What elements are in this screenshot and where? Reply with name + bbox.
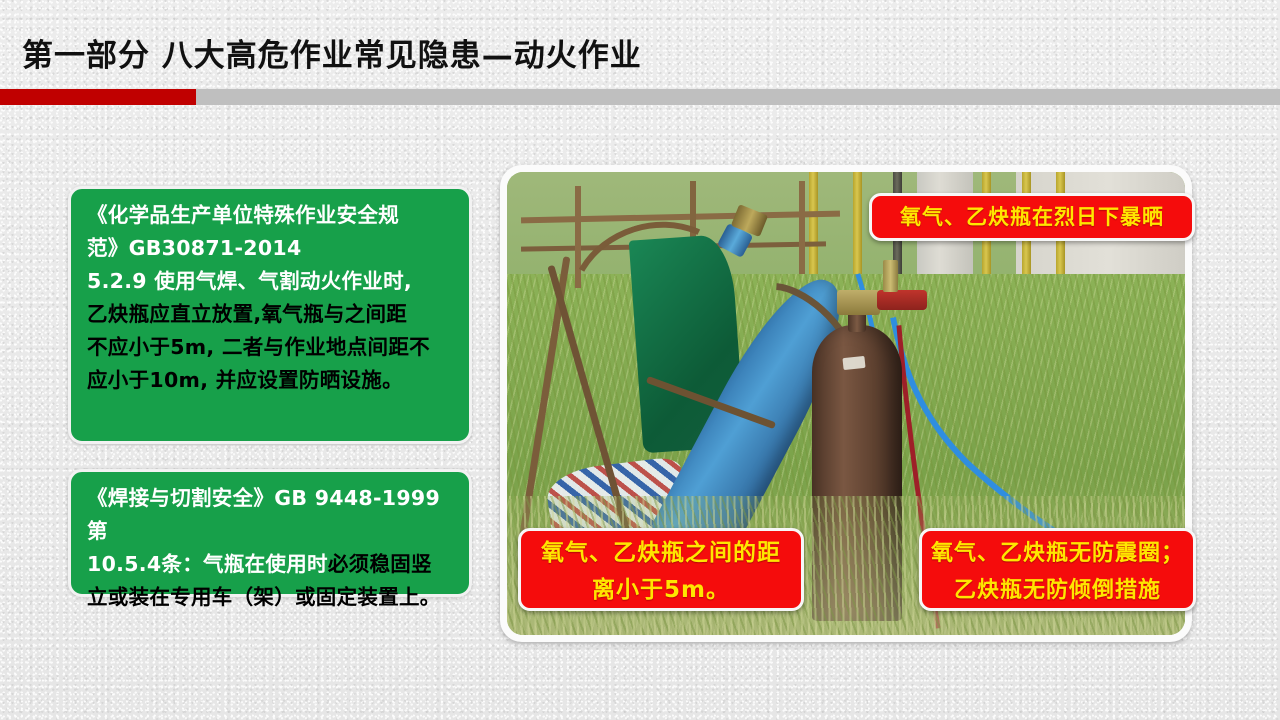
red-valve-handle — [877, 290, 928, 310]
note-box-gb9448: 《焊接与切割安全》GB 9448-1999第 10.5.4条：气瓶在使用时必须稳… — [68, 469, 472, 597]
note-line: 立或装在专用车（架）或固定装置上。 — [87, 581, 455, 614]
note-line: 10.5.4条：气瓶在使用时必须稳固竖 — [87, 548, 455, 581]
note-line: 应小于10m, 并应设置防晒设施。 — [87, 364, 455, 397]
note-line: 乙炔瓶应直立放置,氧气瓶与之间距 — [87, 298, 455, 331]
callout-no-shock-ring: 氧气、乙炔瓶无防震圈； 乙炔瓶无防倾倒措施 — [919, 528, 1196, 611]
page-title: 第一部分 八大高危作业常见隐患—动火作业 — [22, 30, 642, 75]
callout-text: 氧气、乙炔瓶在烈日下暴晒 — [900, 205, 1164, 229]
callout-sun-exposure: 氧气、乙炔瓶在烈日下暴晒 — [869, 193, 1195, 241]
note-line: 不应小于5m, 二者与作业地点间距不 — [87, 331, 455, 364]
note-line: 范》GB30871-2014 — [87, 232, 455, 265]
acetylene-cylinder-valve — [837, 290, 880, 315]
note-line-segment: 10.5.4条：气瓶在使用时 — [87, 552, 328, 576]
callout-distance: 氧气、乙炔瓶之间的距 离小于5m。 — [518, 528, 804, 611]
pressure-regulator — [883, 260, 898, 292]
callout-text: 氧气、乙炔瓶之间的距 — [521, 535, 801, 572]
callout-text: 离小于5m。 — [521, 572, 801, 609]
cylinder-label-sticker — [842, 356, 865, 370]
callout-text: 氧气、乙炔瓶无防震圈； — [922, 535, 1193, 572]
note-box-gb30871: 《化学品生产单位特殊作业安全规 范》GB30871-2014 5.2.9 使用气… — [68, 186, 472, 444]
note-line: 《焊接与切割安全》GB 9448-1999第 — [87, 482, 455, 548]
slide-canvas: 第一部分 八大高危作业常见隐患—动火作业 《化学品生产单位特殊作业安全规 范》G… — [0, 0, 1280, 720]
note-line: 5.2.9 使用气焊、气割动火作业时, — [87, 265, 455, 298]
header-accent-bar — [0, 89, 196, 105]
note-line: 《化学品生产单位特殊作业安全规 — [87, 199, 455, 232]
callout-text: 乙炔瓶无防倾倒措施 — [922, 572, 1193, 609]
note-line-segment-highlight: 必须稳固竖 — [328, 552, 432, 576]
